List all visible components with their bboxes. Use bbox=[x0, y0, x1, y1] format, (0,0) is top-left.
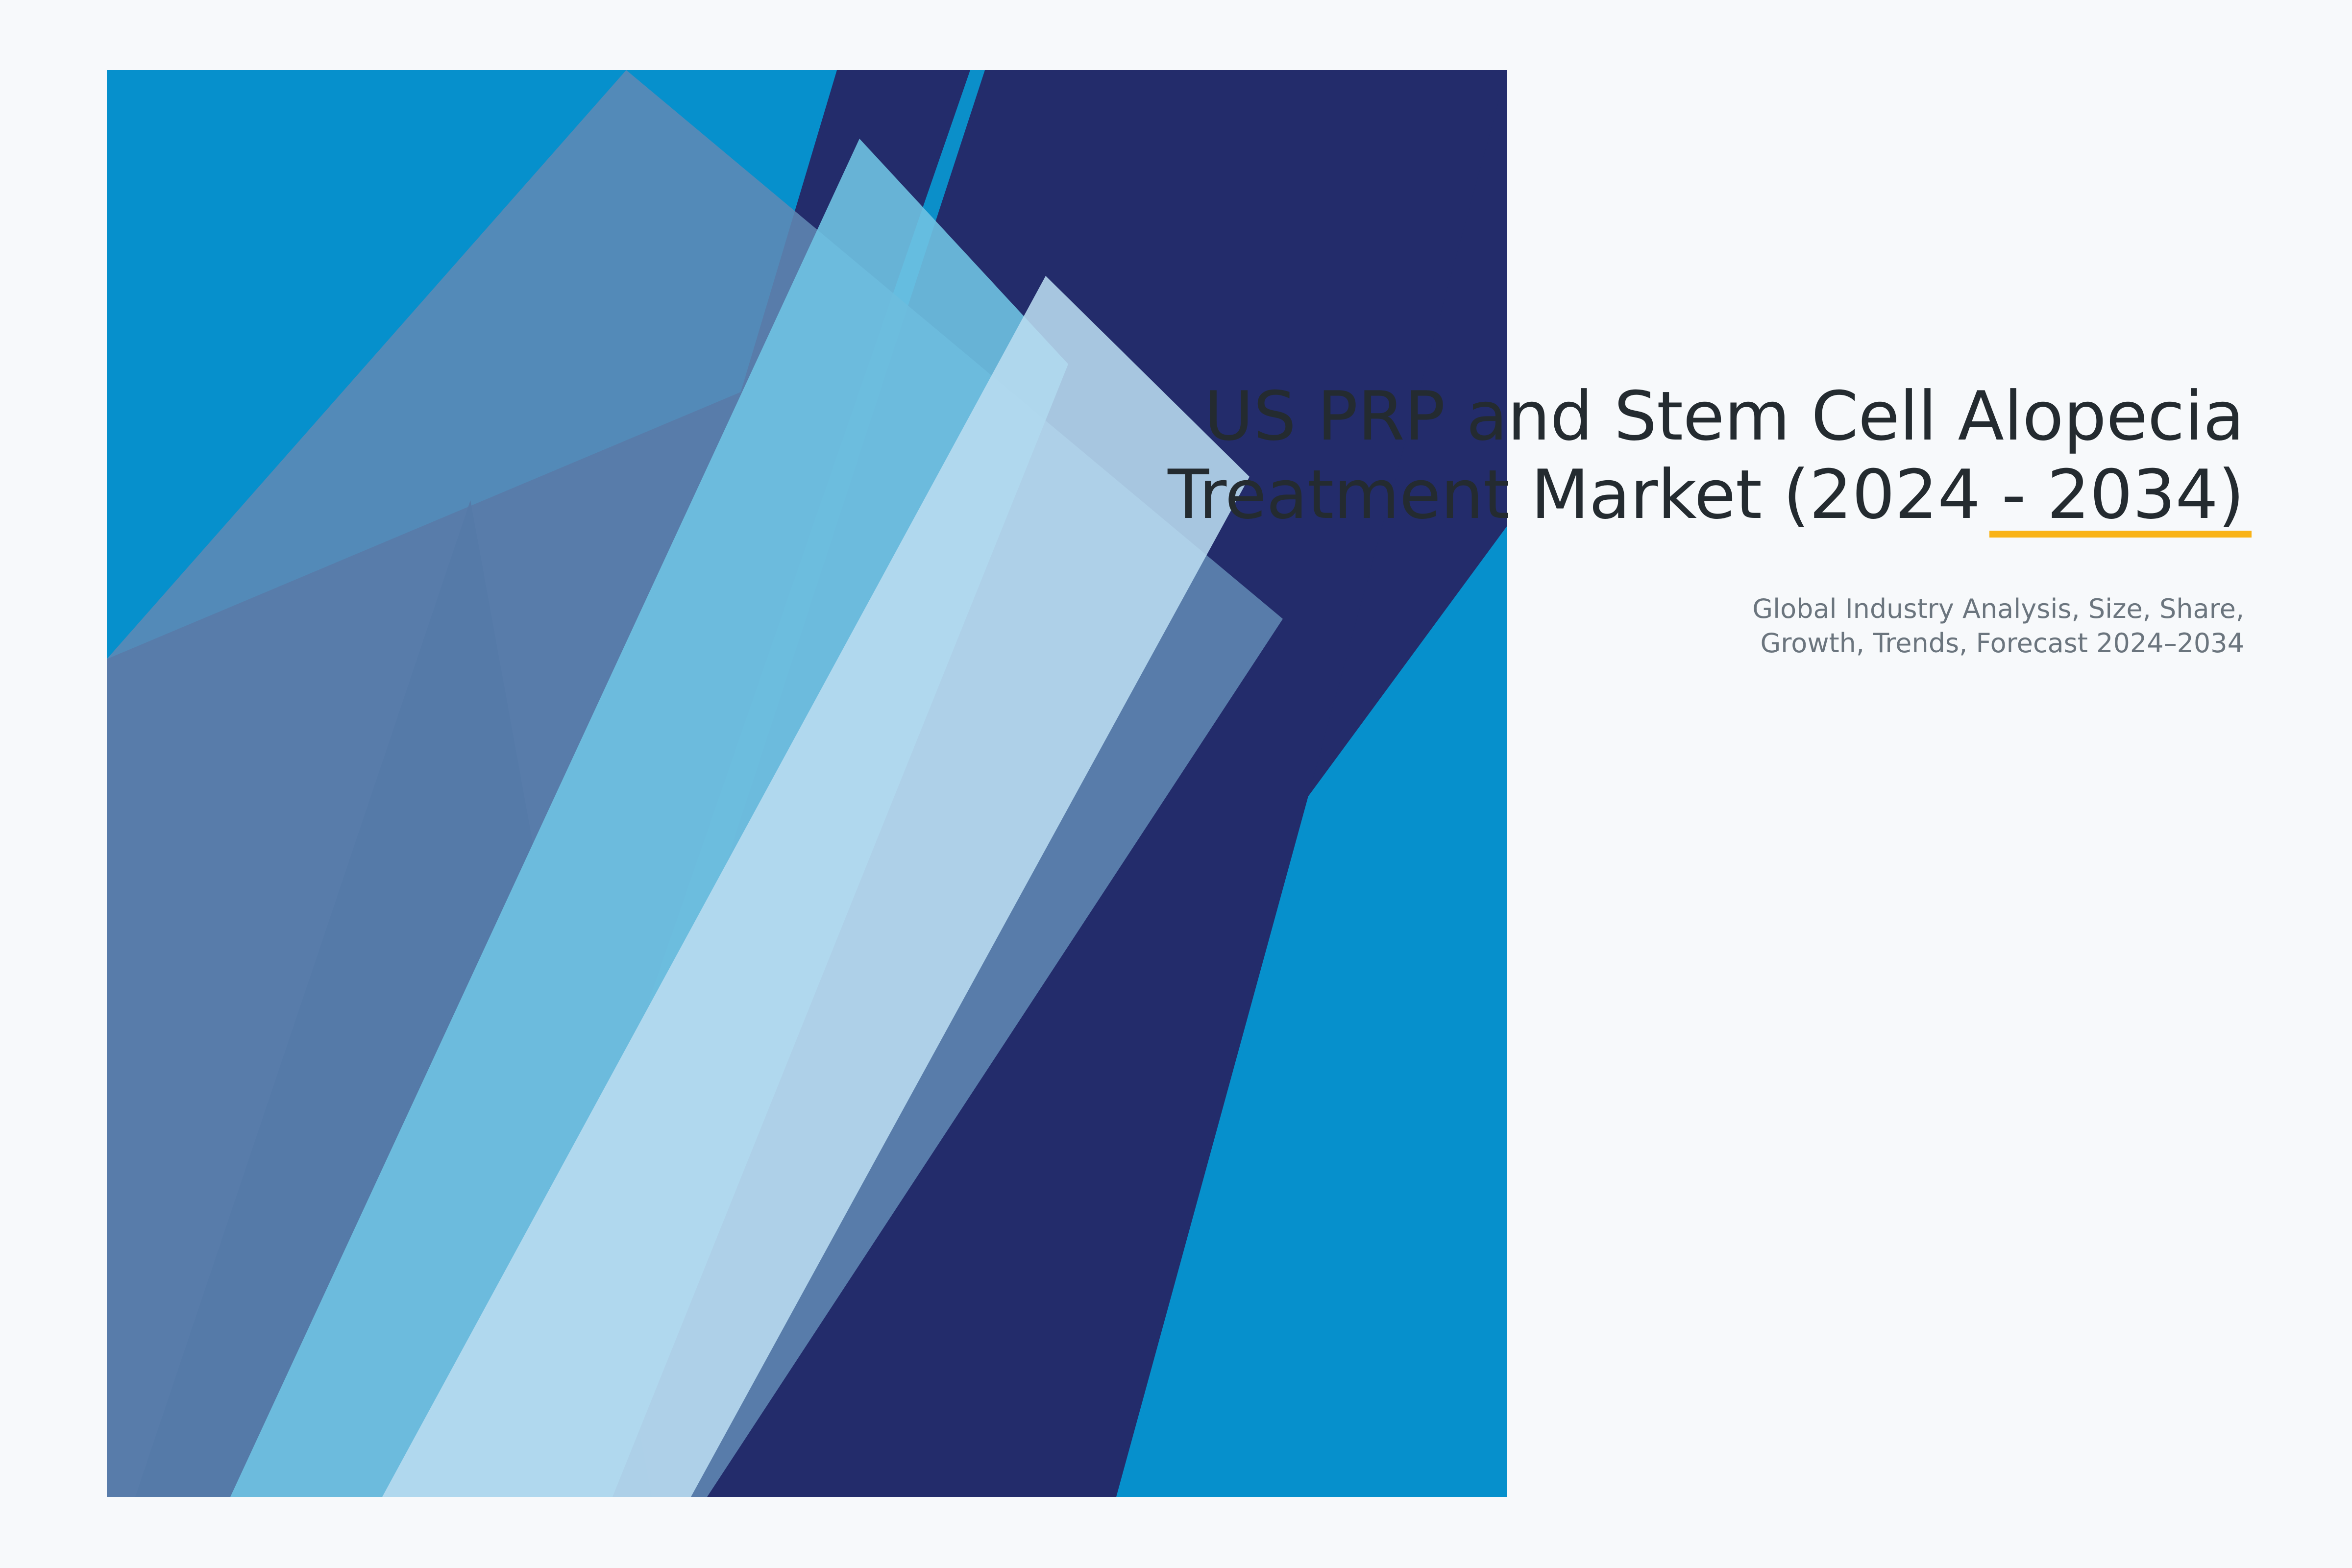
page-title-line-1: US PRP and Stem Cell Alopecia bbox=[1204, 377, 2244, 456]
page-title-line-2: Treatment Market (2024 - 2034) bbox=[1168, 455, 2244, 534]
page-subtitle: Global Industry Analysis, Size, Share,Gr… bbox=[1666, 592, 2244, 661]
hero-text-block: US PRP and Stem Cell AlopeciaTreatment M… bbox=[1029, 377, 2244, 661]
title-wrapper: US PRP and Stem Cell AlopeciaTreatment M… bbox=[1029, 377, 2244, 534]
page-subtitle-line-1: Global Industry Analysis, Size, Share, bbox=[1752, 593, 2244, 624]
abstract-geometric-cover-art bbox=[107, 70, 1507, 1497]
page-title: US PRP and Stem Cell AlopeciaTreatment M… bbox=[1029, 377, 2244, 534]
page-subtitle-line-2: Growth, Trends, Forecast 2024–2034 bbox=[1760, 628, 2244, 659]
cover-page: US PRP and Stem Cell AlopeciaTreatment M… bbox=[0, 0, 2352, 1568]
artwork-svg bbox=[107, 70, 1507, 1497]
